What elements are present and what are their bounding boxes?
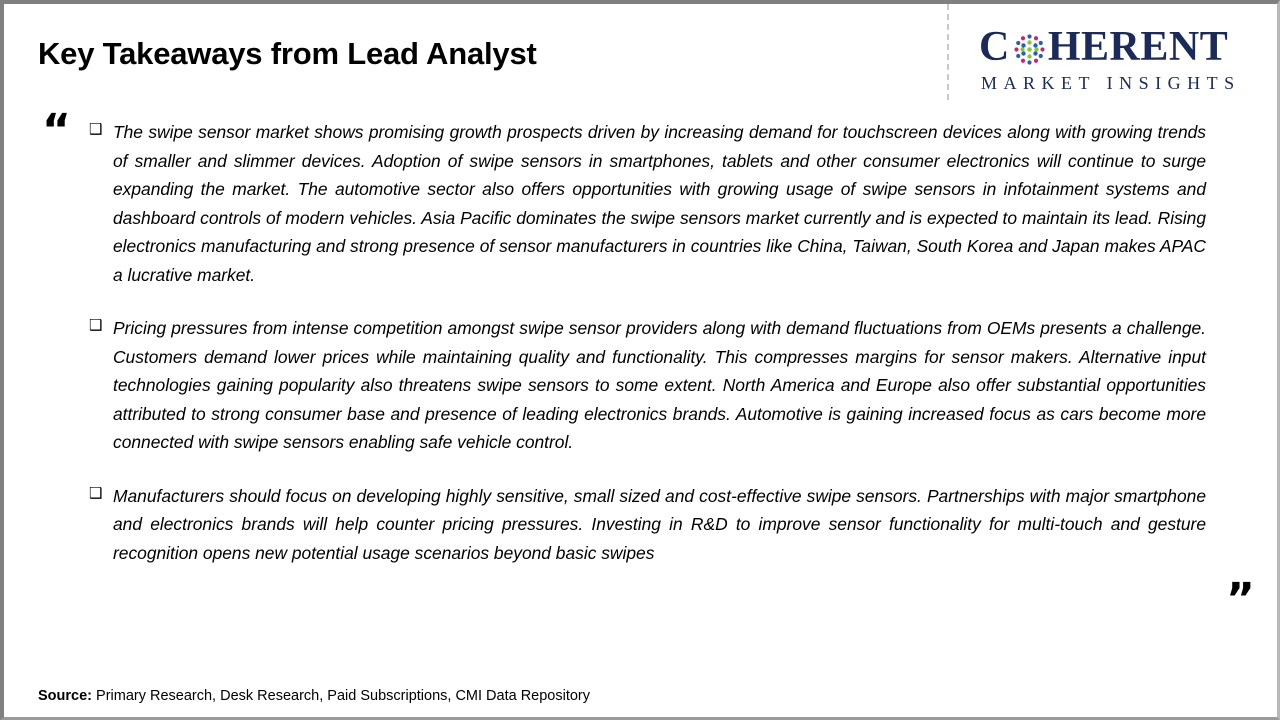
list-item: ❑ Pricing pressures from intense competi… (89, 314, 1206, 457)
source-note: Source: Primary Research, Desk Research,… (38, 688, 590, 704)
logo-wordmark: C (979, 24, 1264, 70)
source-value: Primary Research, Desk Research, Paid Su… (96, 688, 590, 704)
square-bullet-icon: ❑ (89, 483, 102, 504)
close-quote-icon: ” (1226, 578, 1253, 622)
source-label: Source: (38, 688, 92, 704)
takeaway-text: Pricing pressures from intense competiti… (113, 314, 1206, 457)
takeaway-text: The swipe sensor market shows promising … (113, 118, 1206, 289)
list-item: ❑ The swipe sensor market shows promisin… (89, 118, 1206, 289)
square-bullet-icon: ❑ (89, 119, 102, 140)
logo-word-after: HERENT (1048, 26, 1228, 68)
list-item: ❑ Manufacturers should focus on developi… (89, 482, 1206, 568)
takeaway-list: ❑ The swipe sensor market shows promisin… (89, 118, 1206, 567)
slide-header: Key Takeaways from Lead Analyst C (4, 4, 1277, 104)
company-logo: C (979, 24, 1264, 96)
slide-canvas: Key Takeaways from Lead Analyst C (0, 0, 1280, 720)
header-divider (947, 4, 949, 100)
takeaway-text: Manufacturers should focus on developing… (113, 482, 1206, 568)
open-quote-icon: “ (42, 109, 69, 153)
dotted-globe-icon (1013, 33, 1046, 66)
square-bullet-icon: ❑ (89, 315, 102, 336)
logo-subtitle: MARKET INSIGHTS (979, 73, 1264, 94)
page-title: Key Takeaways from Lead Analyst (38, 36, 537, 72)
logo-word-before: C (979, 26, 1010, 68)
